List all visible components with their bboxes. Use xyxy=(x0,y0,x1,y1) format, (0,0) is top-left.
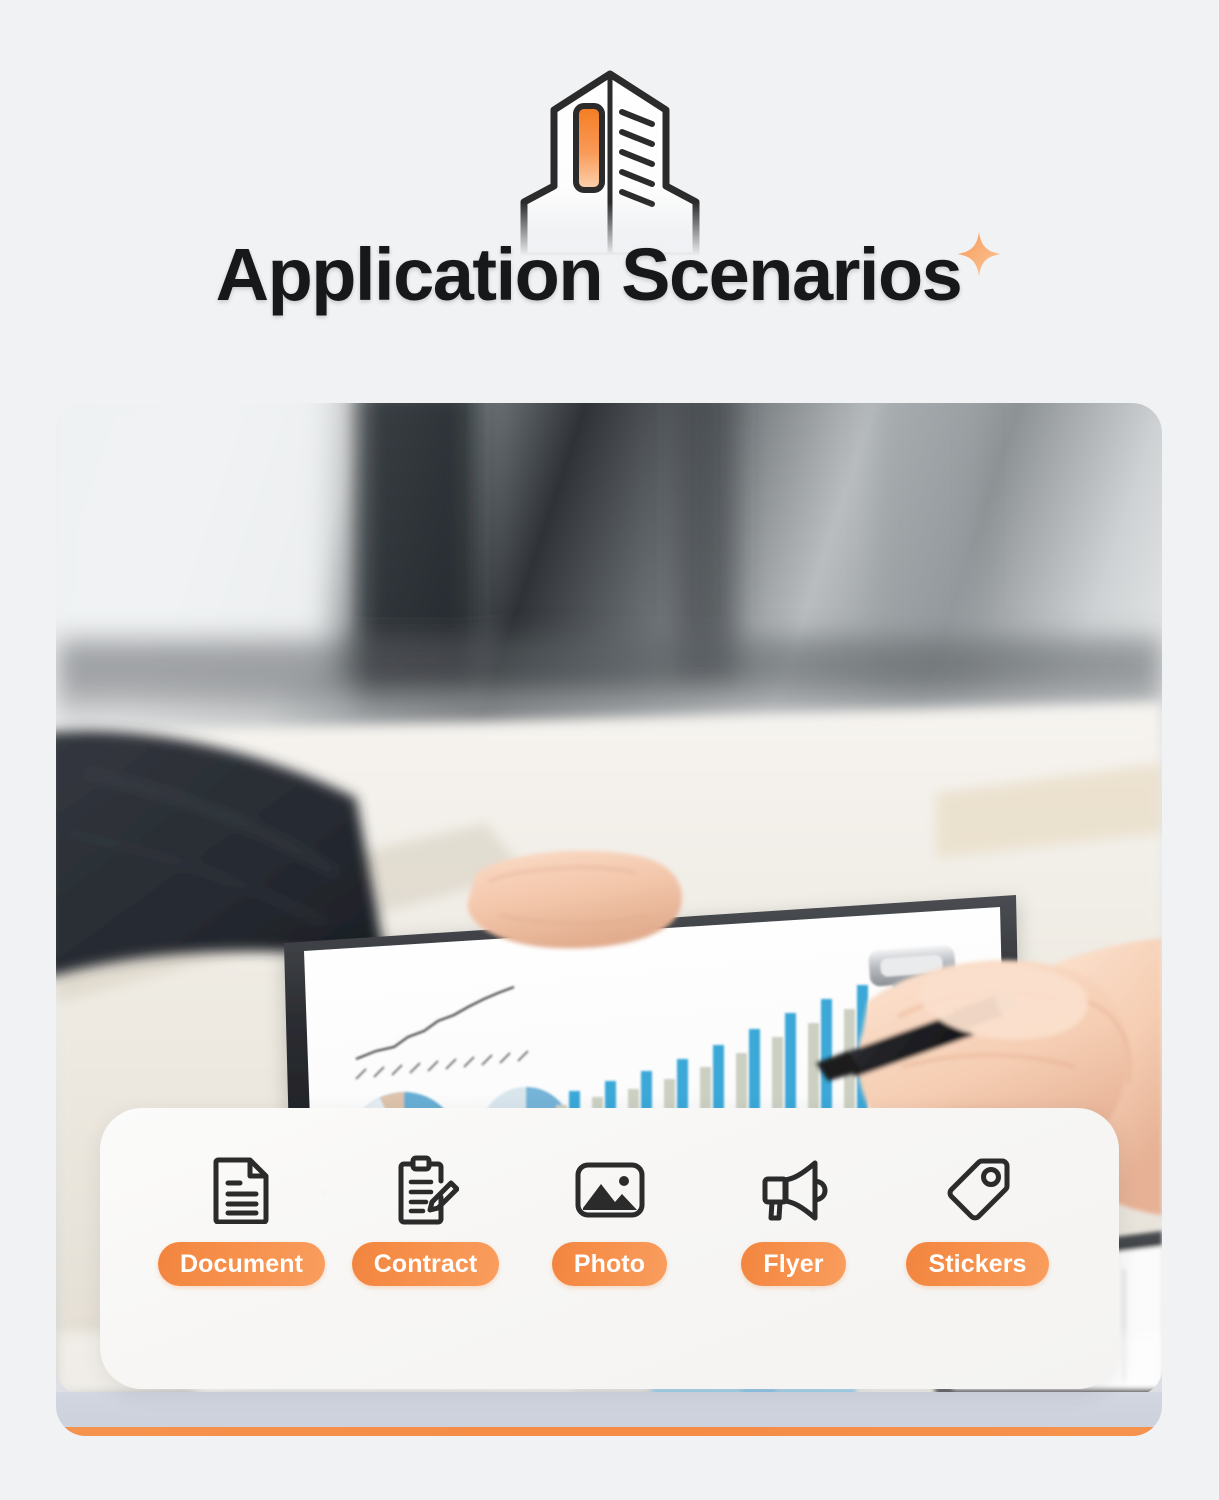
page-title-text: Application Scenarios xyxy=(216,238,962,312)
category-list: Document xyxy=(100,1152,1119,1286)
sparkle-star-icon xyxy=(955,230,1003,278)
category-item-document[interactable]: Document xyxy=(150,1152,334,1286)
category-pill-flyer[interactable]: Flyer xyxy=(741,1242,845,1286)
category-pill-document[interactable]: Document xyxy=(158,1242,325,1286)
photo-card-accent-line xyxy=(56,1427,1162,1436)
office-building-icon xyxy=(500,66,720,256)
category-pill-photo[interactable]: Photo xyxy=(552,1242,667,1286)
contract-icon xyxy=(388,1152,464,1228)
category-item-stickers[interactable]: Stickers xyxy=(886,1152,1070,1286)
category-pill-stickers[interactable]: Stickers xyxy=(906,1242,1048,1286)
megaphone-icon xyxy=(756,1152,832,1228)
category-item-contract[interactable]: Contract xyxy=(334,1152,518,1286)
category-item-photo[interactable]: Photo xyxy=(518,1152,702,1286)
category-item-flyer[interactable]: Flyer xyxy=(702,1152,886,1286)
application-scenarios-page: Application Scenarios xyxy=(0,0,1219,1500)
document-icon xyxy=(204,1152,280,1228)
photo-icon xyxy=(572,1152,648,1228)
page-header: Application Scenarios xyxy=(0,0,1219,400)
application-categories-card: Document xyxy=(100,1108,1119,1389)
category-pill-contract[interactable]: Contract xyxy=(352,1242,500,1286)
page-title: Application Scenarios xyxy=(0,238,1219,312)
tag-icon xyxy=(940,1152,1016,1228)
